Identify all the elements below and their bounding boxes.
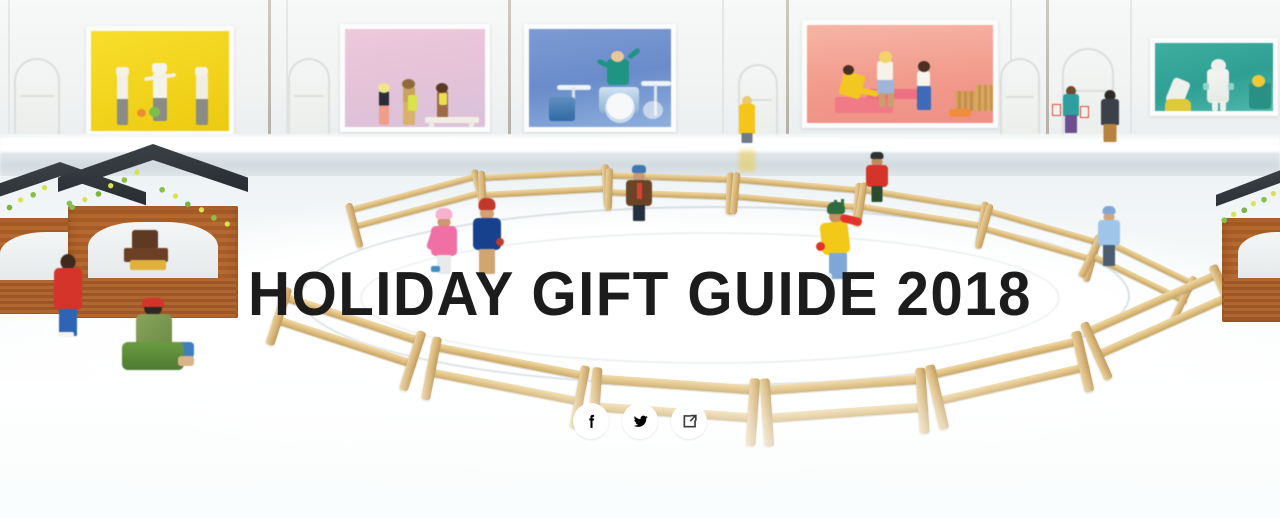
facade-edge [722, 0, 724, 150]
arched-door [14, 58, 60, 140]
drainpipe [268, 0, 271, 150]
drainpipe [1046, 0, 1049, 150]
skater-blue-coat [470, 198, 504, 274]
share-twitter-button[interactable] [622, 403, 658, 439]
billboard-yellow [86, 26, 234, 136]
arched-door [288, 58, 330, 140]
skater-yellow-coat [816, 200, 860, 282]
share-more-button[interactable] [671, 403, 707, 439]
facade-edge [8, 0, 10, 150]
billboard-pink [340, 24, 490, 132]
social-share-row [0, 403, 1280, 439]
drainpipe [786, 0, 789, 150]
reflection-yellow-raincoat [738, 146, 756, 172]
hero-banner: HOLIDAY GIFT GUIDE 2018 [0, 0, 1280, 518]
facade-edge [1130, 0, 1132, 150]
shopping-bag [1052, 104, 1061, 116]
share-facebook-button[interactable] [573, 403, 609, 439]
market-stall-right [1216, 168, 1280, 328]
stall-visitor-red [52, 254, 84, 336]
billboard-blue [524, 24, 676, 132]
standing-yellow-raincoat [738, 96, 756, 144]
arched-door [1000, 58, 1040, 142]
rink-edge-marking [360, 232, 1060, 364]
shopping-bag [1080, 106, 1089, 118]
market-stall-left-front [58, 144, 248, 318]
skater-brown-coat [624, 165, 654, 221]
billboard-coral [802, 20, 998, 128]
twitter-icon [630, 411, 650, 431]
billboard-teal [1150, 38, 1278, 116]
shopper-teal [1062, 86, 1080, 134]
skater-red-coat [864, 152, 890, 202]
share-export-icon [680, 412, 699, 431]
facebook-icon [582, 412, 601, 431]
skater-pink-coat [428, 208, 460, 274]
diorama-scene-image [0, 0, 1280, 518]
skater-lightblue [1096, 206, 1122, 266]
shopper-dark [1100, 90, 1120, 142]
drainpipe [508, 0, 511, 150]
seated-figure-green [122, 300, 196, 376]
